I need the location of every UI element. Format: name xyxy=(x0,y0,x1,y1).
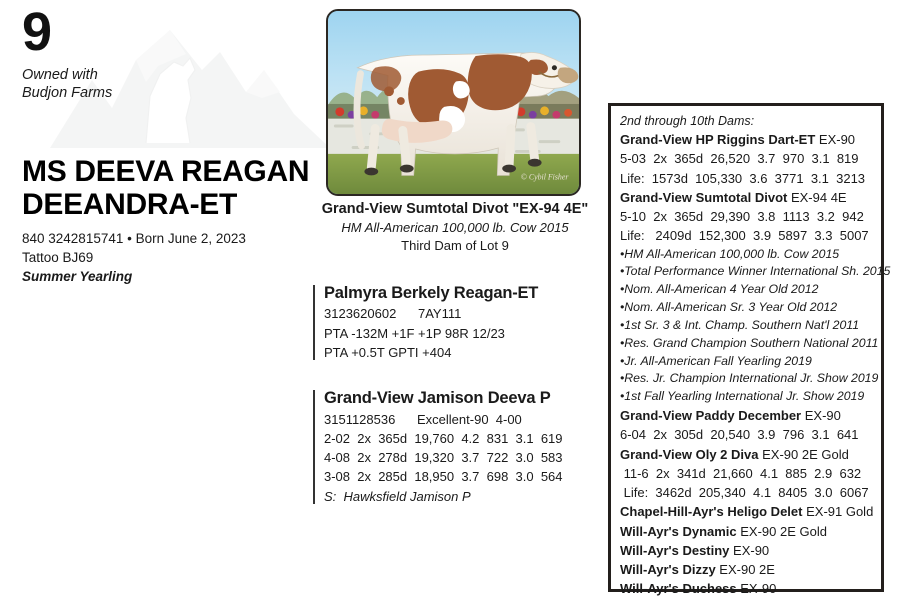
lot-number: 9 xyxy=(22,8,312,58)
dam-row: 4-08 2x 278d 19,320 3.7 722 3.0 583 xyxy=(324,448,603,467)
sire-name: Palmyra Berkely Reagan-ET xyxy=(324,283,603,304)
dam-entry-classification: EX-94 4E xyxy=(787,190,846,205)
dam-entry-name: Chapel-Hill-Ayr's Heligo Delet EX-91 Gol… xyxy=(620,502,875,521)
sire-rule xyxy=(313,285,315,360)
cow-photo: © Cybil Fisher xyxy=(326,9,581,196)
dam-entry-award: •Res. Grand Champion Southern National 2… xyxy=(620,335,875,353)
dam-entry-award: •1st Fall Yearling International Jr. Sho… xyxy=(620,388,875,406)
dam-entry-award: •Nom. All-American Sr. 3 Year Old 2012 xyxy=(620,299,875,317)
dam-entry-name: Grand-View Oly 2 Diva EX-90 2E Gold xyxy=(620,445,875,464)
dam-entry-name: Will-Ayr's Dynamic EX-90 2E Gold xyxy=(620,522,875,541)
dam-entry-animal: Chapel-Hill-Ayr's Heligo Delet xyxy=(620,504,802,519)
dam-entry-record: 5-10 2x 365d 29,390 3.8 1113 3.2 942 xyxy=(620,207,875,226)
dam-name: Grand-View Jamison Deeva P xyxy=(324,388,603,409)
dam-entry-award: •Jr. All-American Fall Yearling 2019 xyxy=(620,353,875,371)
dam-entry-classification: EX-90 xyxy=(729,543,769,558)
pedigree-section: Palmyra Berkely Reagan-ET 3123620602 7AY… xyxy=(313,283,603,506)
dam-entry-award: •Res. Jr. Champion International Jr. Sho… xyxy=(620,370,875,388)
owned-with-block: Owned with Budjon Farms xyxy=(22,66,312,103)
registration-line: 840 3242815741 • Born June 2, 2023 xyxy=(22,229,312,248)
animal-name-line-1: MS DEEVA REAGAN xyxy=(22,155,312,189)
dam-entry-record: 11-6 2x 341d 21,660 4.1 885 2.9 632 xyxy=(620,464,875,483)
sire-of-dam: S: Hawksfield Jamison P xyxy=(324,487,603,506)
owned-with-line-1: Owned with xyxy=(22,66,312,85)
dam-entry-classification: EX-91 Gold xyxy=(802,504,873,519)
lot-info-column: 9 Owned with Budjon Farms MS DEEVA REAGA… xyxy=(22,8,312,288)
dam-entry-classification: EX-90 2E Gold xyxy=(737,524,827,539)
dam-entry-animal: Will-Ayr's Dizzy xyxy=(620,562,716,577)
dam-entry-award: •HM All-American 100,000 lb. Cow 2015 xyxy=(620,246,875,264)
dam-entry-name: Will-Ayr's Dizzy EX-90 2E xyxy=(620,560,875,579)
dams-panel-heading: 2nd through 10th Dams: xyxy=(620,112,875,130)
dam-entry-animal: Will-Ayr's Destiny xyxy=(620,543,729,558)
dam-entry-record: 6-04 2x 305d 20,540 3.9 796 3.1 641 xyxy=(620,425,875,444)
caption-animal-name: Grand-View Sumtotal Divot "EX-94 4E" xyxy=(300,200,610,219)
dam-entry-record: Life: 3462d 205,340 4.1 8405 3.0 6067 xyxy=(620,483,875,502)
dam-entry-classification: EX-90 xyxy=(815,132,855,147)
dam-row: 2-02 2x 365d 19,760 4.2 831 3.1 619 xyxy=(324,429,603,448)
dam-entry-animal: Grand-View Sumtotal Divot xyxy=(620,190,787,205)
dam-row: 3151128536 Excellent-90 4-00 xyxy=(324,410,603,429)
sire-row: PTA -132M +1F +1P 98R 12/23 xyxy=(324,324,603,343)
dam-entry-record: 5-03 2x 365d 26,520 3.7 970 3.1 819 xyxy=(620,149,875,168)
dam-entry-animal: Grand-View HP Riggins Dart-ET xyxy=(620,132,815,147)
dam-entry-record: Life: 1573d 105,330 3.6 3771 3.1 3213 xyxy=(620,169,875,188)
dam-entry-name: Grand-View Sumtotal Divot EX-94 4E xyxy=(620,188,875,207)
dam-entry-classification: EX-90 xyxy=(737,581,777,596)
dam-entry-classification: EX-90 xyxy=(801,408,841,423)
dam-entry-award: •1st Sr. 3 & Int. Champ. Southern Nat'l … xyxy=(620,317,875,335)
animal-name: MS DEEVA REAGAN DEEANDRA-ET xyxy=(22,155,312,222)
dam-entry-name: Grand-View HP Riggins Dart-ET EX-90 xyxy=(620,130,875,149)
sire-row: PTA +0.5T GPTI +404 xyxy=(324,343,603,362)
sire-row: 3123620602 7AY111 xyxy=(324,304,603,323)
caption-relation: Third Dam of Lot 9 xyxy=(300,237,610,255)
ancestor-dams-panel: 2nd through 10th Dams: Grand-View HP Rig… xyxy=(608,103,884,592)
dam-entry-award: •Nom. All-American 4 Year Old 2012 xyxy=(620,281,875,299)
dam-entry-name: Will-Ayr's Destiny EX-90 xyxy=(620,541,875,560)
dam-block: Grand-View Jamison Deeva P 3151128536 Ex… xyxy=(313,388,603,506)
sire-block: Palmyra Berkely Reagan-ET 3123620602 7AY… xyxy=(313,283,603,362)
show-class-line: Summer Yearling xyxy=(22,267,312,287)
dam-entry-classification: EX-90 2E xyxy=(716,562,775,577)
dam-entry-animal: Will-Ayr's Duchess xyxy=(620,581,737,596)
dam-row: 3-08 2x 285d 18,950 3.7 698 3.0 564 xyxy=(324,467,603,486)
caption-award: HM All-American 100,000 lb. Cow 2015 xyxy=(300,219,610,237)
dam-rule xyxy=(313,390,315,504)
dam-entry-classification: EX-90 2E Gold xyxy=(758,447,848,462)
dam-entry-record: Life: 2409d 152,300 3.9 5897 3.3 5007 xyxy=(620,226,875,245)
dams-list: Grand-View HP Riggins Dart-ET EX-905-03 … xyxy=(620,130,875,598)
photo-credit: © Cybil Fisher xyxy=(521,172,569,181)
animal-name-line-2: DEEANDRA-ET xyxy=(22,188,312,222)
photo-caption: Grand-View Sumtotal Divot "EX-94 4E" HM … xyxy=(300,200,610,256)
dam-entry-award: •Total Performance Winner International … xyxy=(620,263,875,281)
tattoo-line: Tattoo BJ69 xyxy=(22,248,312,267)
dam-entry-animal: Grand-View Paddy December xyxy=(620,408,801,423)
dam-entry-animal: Grand-View Oly 2 Diva xyxy=(620,447,758,462)
dam-entry-name: Grand-View Paddy December EX-90 xyxy=(620,406,875,425)
dam-entry-name: Will-Ayr's Duchess EX-90 xyxy=(620,579,875,598)
owned-with-line-2: Budjon Farms xyxy=(22,84,312,103)
dam-entry-animal: Will-Ayr's Dynamic xyxy=(620,524,737,539)
